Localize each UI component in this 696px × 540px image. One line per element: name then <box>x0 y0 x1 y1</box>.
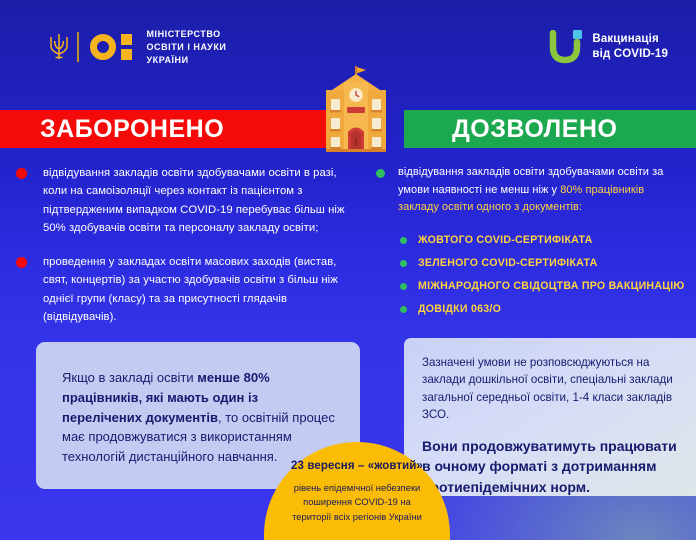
list-item: відвідування закладів освіти здобувачами… <box>16 164 350 237</box>
green-v-icon <box>549 30 583 64</box>
list-item: проведення у закладах освіти масових зах… <box>16 253 350 326</box>
ukraine-trident-icon <box>48 32 70 62</box>
list-item: МІЖНАРОДНОГО СВІДОЦТВА ПРО ВАКЦИНАЦІЮ <box>400 279 688 294</box>
ministry-line-3: УКРАЇНИ <box>147 54 227 67</box>
bullet-red-icon <box>16 168 27 179</box>
bullet-green-icon <box>400 283 407 290</box>
bullet-green-icon <box>400 237 407 244</box>
banner-allowed: ДОЗВОЛЕНО <box>404 110 696 148</box>
document-label: МІЖНАРОДНОГО СВІДОЦТВА ПРО ВАКЦИНАЦІЮ <box>418 279 685 294</box>
vaccination-line-2: від COVID-19 <box>592 47 668 62</box>
banner-allowed-label: ДОЗВОЛЕНО <box>452 115 617 144</box>
banner-forbidden-label: ЗАБОРОНЕНО <box>40 115 224 144</box>
allowed-list: відвідування закладів освіти здобувачами… <box>376 164 688 325</box>
banner-forbidden: ЗАБОРОНЕНО <box>0 110 326 148</box>
bullet-green-icon <box>400 306 407 313</box>
vaccination-line-1: Вакцинація <box>592 32 668 47</box>
document-label: ЗЕЛЕНОГО COVID-СЕРТИФІКАТА <box>418 256 597 271</box>
ministry-logo: МІНІСТЕРСТВО ОСВІТИ І НАУКИ УКРАЇНИ <box>48 28 226 66</box>
forbidden-item-text: проведення у закладах освіти масових зах… <box>43 253 350 326</box>
ministry-name: МІНІСТЕРСТВО ОСВІТИ І НАУКИ УКРАЇНИ <box>147 28 227 66</box>
infographic-poster: МІНІСТЕРСТВО ОСВІТИ І НАУКИ УКРАЇНИ Вакц… <box>0 0 696 540</box>
list-item: ДОВІДКИ 063/О <box>400 302 688 317</box>
bullet-red-icon <box>16 257 27 268</box>
vaccination-logo: Вакцинація від COVID-19 <box>549 30 668 64</box>
forbidden-item-text: відвідування закладів освіти здобувачами… <box>43 164 350 237</box>
mon-squares-icon <box>121 34 132 60</box>
document-label: ЖОВТОГО COVID-СЕРТИФІКАТА <box>418 233 593 248</box>
card-left-part1: Якщо в закладі освіти <box>62 370 197 385</box>
list-item: ЖОВТОГО COVID-СЕРТИФІКАТА <box>400 233 688 248</box>
ministry-line-1: МІНІСТЕРСТВО <box>147 28 227 41</box>
document-label: ДОВІДКИ 063/О <box>418 302 501 317</box>
allowed-item-text: відвідування закладів освіти здобувачами… <box>398 164 688 217</box>
vaccination-dot-icon <box>573 30 582 39</box>
logo-divider <box>77 32 79 62</box>
forbidden-list: відвідування закладів освіти здобувачами… <box>16 164 350 342</box>
card-right-big-text: Вони продовжуватимуть працювати в очному… <box>422 436 680 498</box>
documents-list: ЖОВТОГО COVID-СЕРТИФІКАТА ЗЕЛЕНОГО COVID… <box>400 233 688 317</box>
card-right-small-text: Зазначені умови не розповсюджуються на з… <box>422 354 680 424</box>
list-item: відвідування закладів освіти здобувачами… <box>376 164 688 217</box>
yellow-circle-body: рівень епідемічної небезпеки поширення C… <box>264 481 450 524</box>
card-left-text: Якщо в закладі освіти менше 80% працівни… <box>62 368 338 467</box>
list-item: ЗЕЛЕНОГО COVID-СЕРТИФІКАТА <box>400 256 688 271</box>
card-exemptions: Зазначені умови не розповсюджуються на з… <box>404 338 696 496</box>
bullet-green-icon <box>376 169 385 178</box>
school-building-icon <box>316 66 396 152</box>
vaccination-name: Вакцинація від COVID-19 <box>592 32 668 62</box>
bullet-green-icon <box>400 260 407 267</box>
mon-ring-icon <box>90 34 116 60</box>
ministry-line-2: ОСВІТИ І НАУКИ <box>147 41 227 54</box>
yellow-circle-title: 23 вересня – «жовтий» <box>264 460 450 472</box>
mon-ring-squares-icon <box>90 34 132 60</box>
